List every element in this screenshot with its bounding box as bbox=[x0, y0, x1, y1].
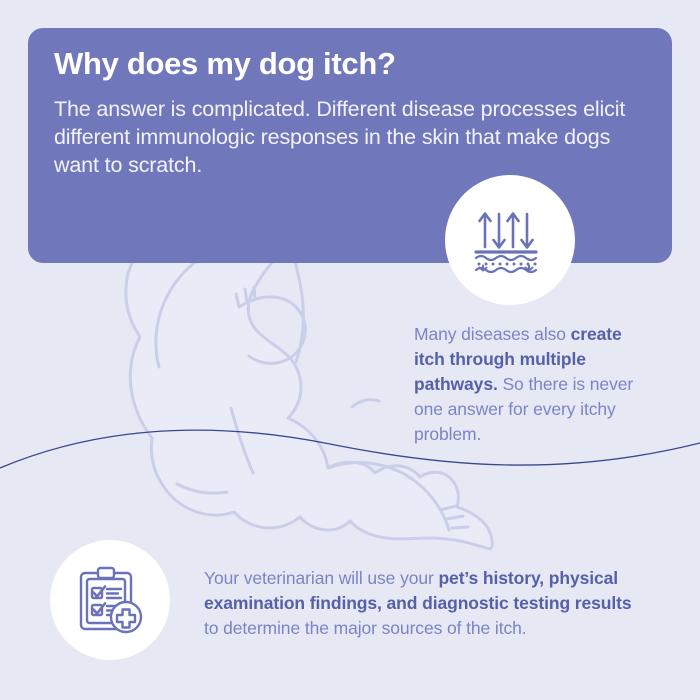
middle-text-seg-0: Many diseases also bbox=[414, 324, 571, 344]
bottom-text-seg-2: to determine the major sources of the it… bbox=[204, 618, 527, 638]
text-block-bottom: Your veterinarian will use your pet’s hi… bbox=[204, 566, 638, 641]
header-card: Why does my dog itch? The answer is comp… bbox=[28, 28, 672, 263]
clipboard-icon-circle bbox=[50, 540, 170, 660]
skin-icon-circle bbox=[445, 175, 575, 305]
bottom-text-seg-0: Your veterinarian will use your bbox=[204, 568, 438, 588]
skin-layers-icon bbox=[473, 203, 547, 277]
clipboard-checklist-medical-icon bbox=[73, 563, 147, 637]
text-block-middle: Many diseases also create itch through m… bbox=[414, 322, 642, 447]
header-body-text: The answer is complicated. Different dis… bbox=[54, 95, 646, 180]
page-title: Why does my dog itch? bbox=[54, 46, 646, 83]
infographic-canvas: Why does my dog itch? The answer is comp… bbox=[0, 0, 700, 700]
